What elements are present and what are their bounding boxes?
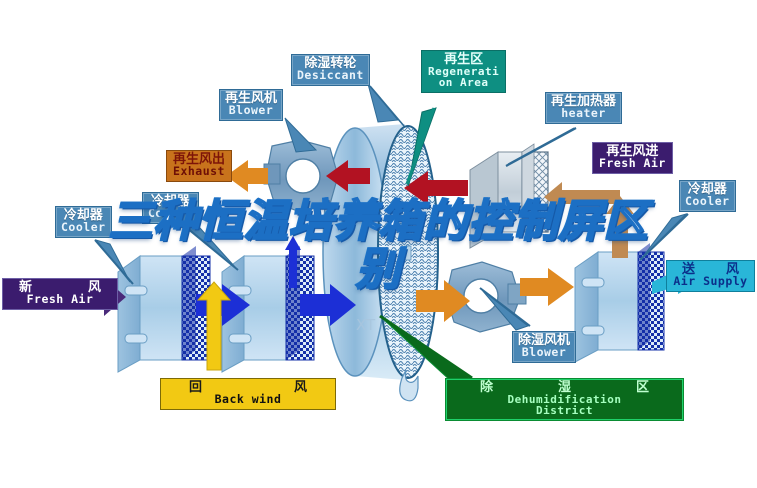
label-desiccant-rotor[interactable]: 除湿转轮 Desiccant xyxy=(291,54,370,86)
label-cooler-right-en: Cooler xyxy=(685,196,730,208)
label-back-wind-en: Back wind xyxy=(167,394,329,406)
label-cooler-mid[interactable]: 冷却器 Cooler xyxy=(142,192,199,224)
cooler-unit-right-graphic xyxy=(575,243,664,362)
label-regeneration-exhaust[interactable]: 再生风出 Exhaust xyxy=(166,150,232,182)
label-dehumidification-blower[interactable]: 除湿风机 Blower xyxy=(512,331,576,363)
label-dehumidification-district[interactable]: 除 湿 区 Dehumidification District xyxy=(445,378,684,421)
label-regeneration-blower[interactable]: 再生风机 Blower xyxy=(219,89,283,121)
label-regeneration-area[interactable]: 再生区 Regenerati on Area xyxy=(421,50,506,93)
label-air-supply-en: Air Supply xyxy=(673,276,748,288)
label-cooler-mid-en: Cooler xyxy=(148,208,193,220)
label-cooler-left[interactable]: 冷却器 Cooler xyxy=(55,206,112,238)
arrow-tan-regen-fresh xyxy=(544,182,620,212)
label-cooler-right[interactable]: 冷却器 Cooler xyxy=(679,180,736,212)
rotor-watermark: XT xyxy=(356,316,376,334)
label-dehumidification-district-cn: 除 湿 区 xyxy=(454,381,675,394)
label-back-wind[interactable]: 回 风 Back wind xyxy=(160,378,336,410)
label-dehumidification-district-en2: District xyxy=(454,405,675,416)
arrow-tan-regen-up xyxy=(606,196,634,258)
label-regeneration-fresh-air-en: Fresh Air xyxy=(599,158,666,170)
arrow-orange-to-cooler xyxy=(520,268,574,306)
label-regeneration-area-cn: 再生区 xyxy=(428,53,499,66)
label-fresh-air-inlet[interactable]: 新 风 Fresh Air xyxy=(2,278,118,310)
label-fresh-air-inlet-en: Fresh Air xyxy=(9,294,111,306)
label-air-supply[interactable]: 送 风 Air Supply xyxy=(666,260,755,292)
desiccant-rotor-graphic: XT xyxy=(323,124,438,401)
label-dehumidification-blower-en: Blower xyxy=(518,347,570,359)
label-regeneration-heater[interactable]: 再生加热器 heater xyxy=(545,92,622,124)
label-cooler-left-en: Cooler xyxy=(61,222,106,234)
diagram-canvas: XT xyxy=(0,0,757,488)
label-regeneration-blower-en: Blower xyxy=(225,105,277,117)
label-desiccant-rotor-en: Desiccant xyxy=(297,70,364,82)
arrow-orange-exhaust xyxy=(226,160,268,192)
label-regeneration-area-en2: on Area xyxy=(428,77,499,88)
label-regeneration-fresh-air[interactable]: 再生风进 Fresh Air xyxy=(592,142,673,174)
label-regeneration-exhaust-en: Exhaust xyxy=(173,166,225,178)
label-regeneration-heater-en: heater xyxy=(551,108,616,120)
regeneration-heater-graphic xyxy=(470,144,548,248)
